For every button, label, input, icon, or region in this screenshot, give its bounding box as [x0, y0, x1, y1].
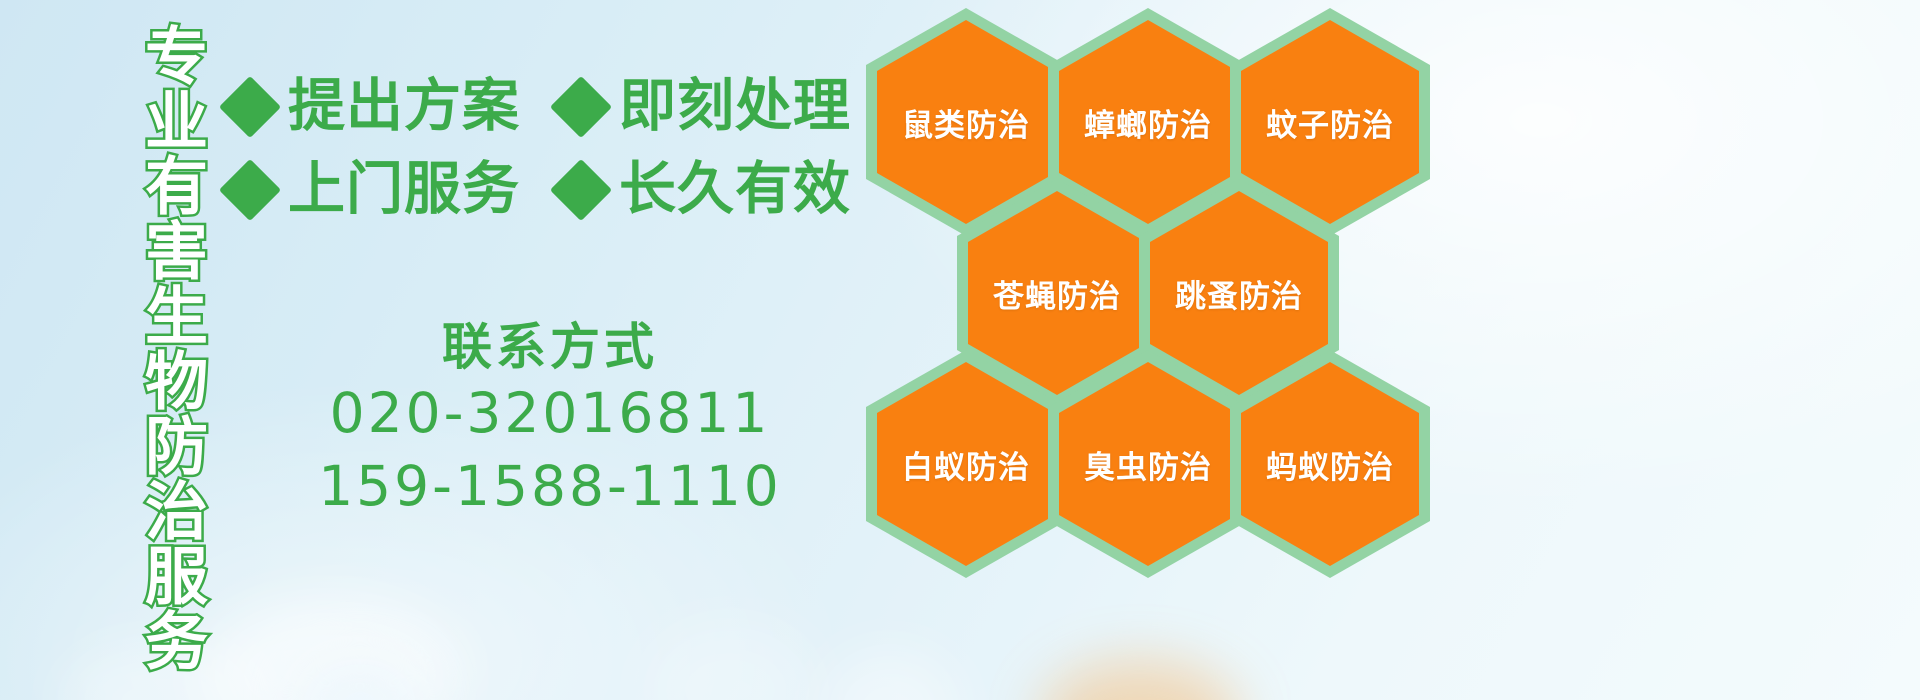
contact-heading: 联系方式	[240, 318, 860, 377]
diamond-icon	[550, 158, 612, 220]
feature-item-onsite-service: 上门服务	[228, 161, 537, 218]
phone-mobile[interactable]: 159-1588-1110	[240, 450, 860, 523]
feature-label: 长久有效	[619, 161, 851, 218]
diamond-icon	[550, 75, 612, 137]
background-bokeh-blob	[820, 650, 960, 700]
service-label: 臭虫防治	[1048, 350, 1248, 578]
background-bokeh-blob	[1040, 660, 1240, 700]
pest-control-banner: 专业有害生物防治服务 提出方案 即刻处理 上门服务 长久有效 联系方式 020-…	[0, 0, 1920, 700]
background-bokeh-blob	[200, 600, 460, 700]
phone-landline[interactable]: 020-32016811	[240, 377, 860, 450]
feature-label: 提出方案	[288, 78, 520, 135]
feature-item-long-lasting: 长久有效	[559, 161, 868, 218]
background-bokeh-blob	[300, 660, 420, 700]
feature-label: 即刻处理	[619, 78, 851, 135]
service-hex-ant[interactable]: 蚂蚁防治	[1230, 350, 1430, 578]
vertical-headline: 专业有害生物防治服务	[108, 18, 204, 678]
service-hex-termite[interactable]: 白蚁防治	[866, 350, 1066, 578]
diamond-icon	[219, 75, 281, 137]
feature-label: 上门服务	[288, 161, 520, 218]
diamond-icon	[219, 158, 281, 220]
feature-item-propose-plan: 提出方案	[228, 78, 537, 135]
service-honeycomb: 鼠类防治 蟑螂防治 蚊子防治 苍蝇防治 跳蚤防治 白蚁防治	[858, 0, 1458, 560]
feature-list: 提出方案 即刻处理 上门服务 长久有效	[228, 78, 868, 218]
service-label: 白蚁防治	[866, 350, 1066, 578]
feature-item-immediate-response: 即刻处理	[559, 78, 868, 135]
contact-block: 联系方式 020-32016811 159-1588-1110	[240, 318, 860, 523]
service-label: 蚂蚁防治	[1230, 350, 1430, 578]
service-hex-bedbug[interactable]: 臭虫防治	[1048, 350, 1248, 578]
background-bokeh-blob	[640, 620, 820, 700]
